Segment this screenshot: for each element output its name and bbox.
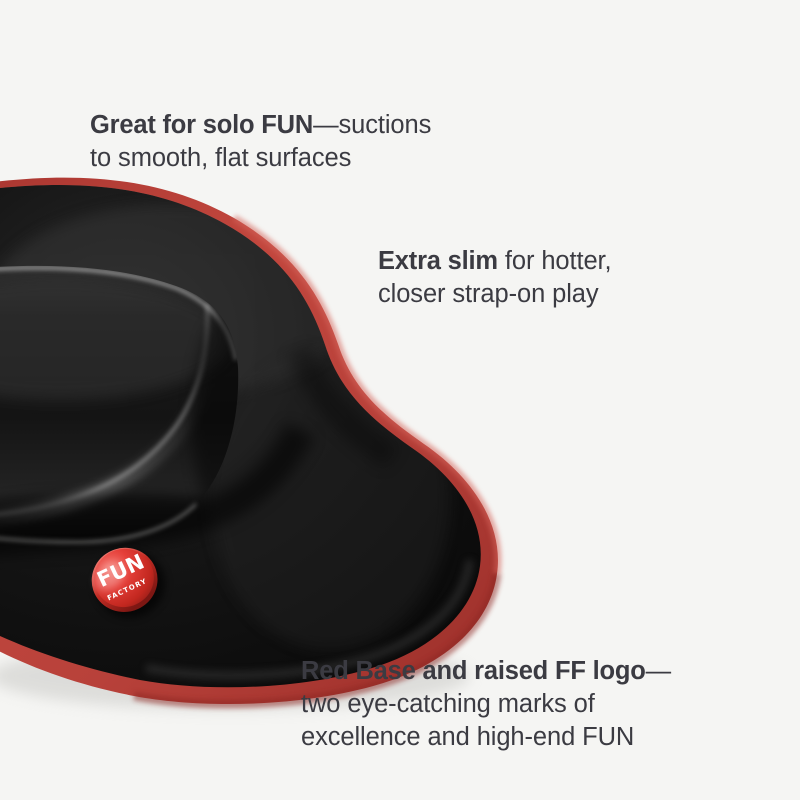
callout-extra-slim: Extra slim for hotter, closer strap-on p…: [378, 212, 708, 311]
infographic-canvas: FUN FACTORY Great for solo FUN—suctions …: [0, 0, 800, 800]
callout-red-base: Red Base and raised FF logo— two eye-cat…: [301, 622, 721, 754]
callout-extra-slim-lead: Extra slim: [378, 247, 498, 275]
callout-solo-fun: Great for solo FUN—suctions to smooth, f…: [90, 76, 520, 175]
callout-red-base-lead: Red Base and raised FF logo: [301, 657, 646, 685]
callout-solo-fun-lead: Great for solo FUN: [90, 111, 313, 139]
